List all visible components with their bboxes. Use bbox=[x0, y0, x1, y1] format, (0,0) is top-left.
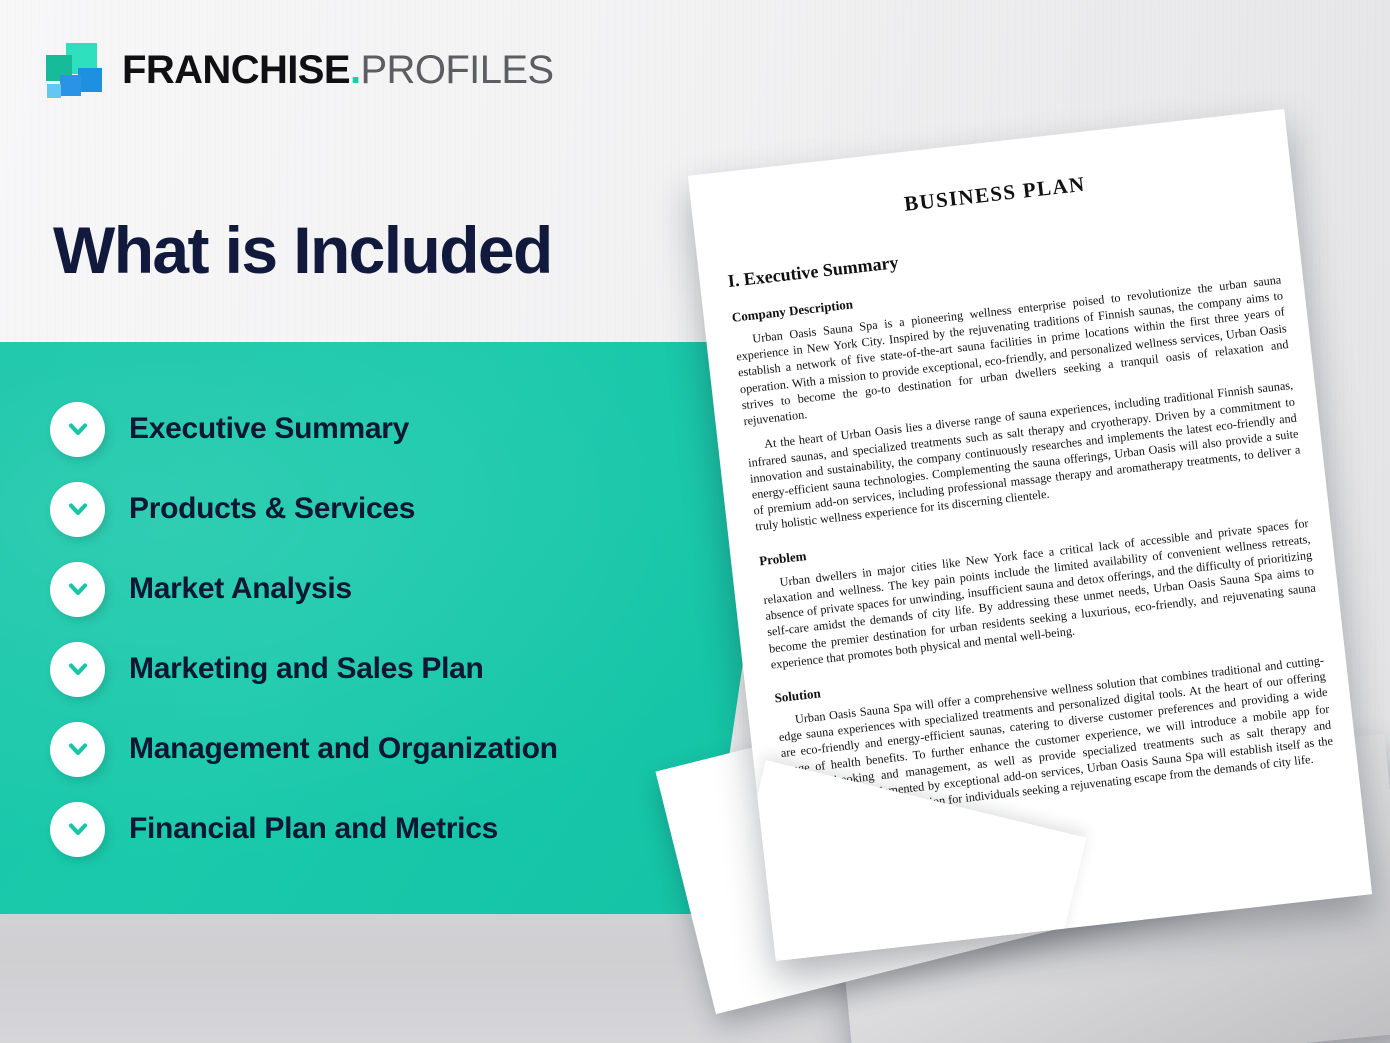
list-item[interactable]: Financial Plan and Metrics bbox=[50, 798, 750, 860]
chevron-down-icon[interactable] bbox=[50, 482, 105, 537]
chevron-down-icon[interactable] bbox=[50, 642, 105, 697]
list-item-label: Marketing and Sales Plan bbox=[129, 654, 484, 684]
document-stack: go-to urban wellness demands of city lif… bbox=[690, 120, 1390, 1020]
list-item[interactable]: Executive Summary bbox=[50, 398, 750, 460]
chevron-down-icon[interactable] bbox=[50, 722, 105, 777]
document-sheet-front[interactable]: BUSINESS PLAN I. Executive Summary Compa… bbox=[688, 109, 1372, 961]
list-item[interactable]: Management and Organization bbox=[50, 718, 750, 780]
brand-logo[interactable]: FRANCHISE.PROFILES bbox=[45, 42, 554, 98]
list-item-label: Management and Organization bbox=[129, 734, 558, 764]
page-title: What is Included bbox=[53, 216, 552, 285]
list-item-label: Products & Services bbox=[129, 494, 415, 524]
list-item-label: Market Analysis bbox=[129, 574, 352, 604]
chevron-down-icon[interactable] bbox=[50, 802, 105, 857]
list-item[interactable]: Market Analysis bbox=[50, 558, 750, 620]
logo-square-3 bbox=[78, 68, 102, 92]
chevron-down-icon[interactable] bbox=[50, 402, 105, 457]
slide-canvas: FRANCHISE.PROFILES What is Included Exec… bbox=[0, 0, 1390, 1043]
feature-list: Executive Summary Products & Services Ma… bbox=[50, 398, 750, 860]
logo-mark-icon bbox=[45, 42, 105, 98]
chevron-down-icon[interactable] bbox=[50, 562, 105, 617]
brand-word-dot: . bbox=[350, 48, 361, 92]
brand-word-secondary: PROFILES bbox=[360, 48, 553, 92]
logo-square-4 bbox=[60, 75, 81, 96]
logo-square-5 bbox=[47, 84, 61, 98]
brand-word-primary: FRANCHISE bbox=[122, 48, 350, 92]
list-item-label: Financial Plan and Metrics bbox=[129, 814, 498, 844]
list-item[interactable]: Marketing and Sales Plan bbox=[50, 638, 750, 700]
brand-wordmark: FRANCHISE.PROFILES bbox=[122, 50, 554, 90]
list-item[interactable]: Products & Services bbox=[50, 478, 750, 540]
list-item-label: Executive Summary bbox=[129, 414, 409, 444]
